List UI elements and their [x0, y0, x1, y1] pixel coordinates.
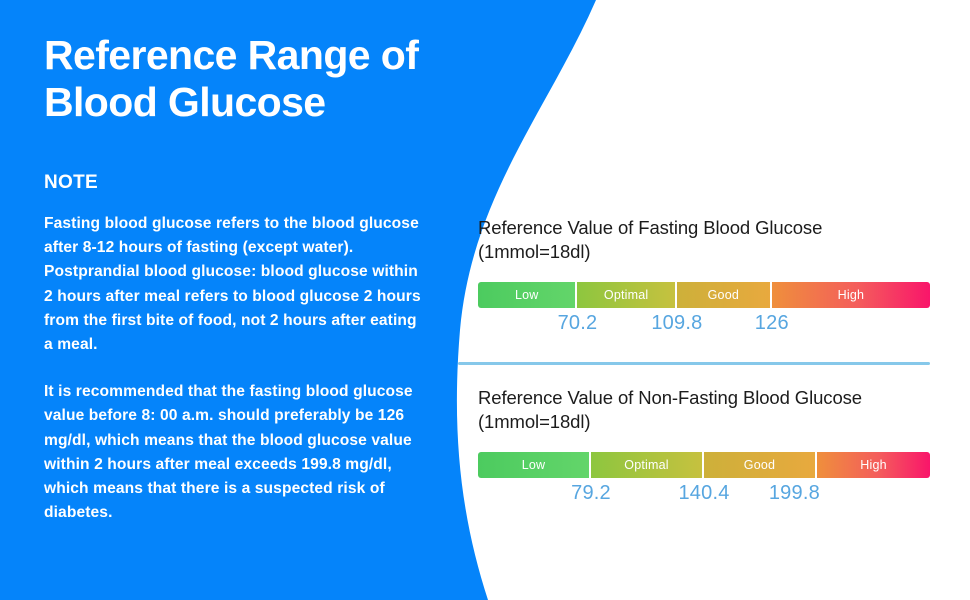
- right-panel: Reference Value of Fasting Blood Glucose…: [478, 0, 970, 600]
- fasting-segment-good-label: Good: [708, 288, 739, 302]
- non-fasting-heading: Reference Value of Non-Fasting Blood Glu…: [478, 386, 908, 434]
- non-fasting-value-3: 199.8: [769, 482, 820, 505]
- fasting-segment-optimal: Optimal: [577, 282, 676, 308]
- non-fasting-scale-bar: Low Optimal Good High: [478, 452, 930, 478]
- fasting-segment-high: High: [772, 282, 930, 308]
- fasting-segment-low: Low: [478, 282, 577, 308]
- non-fasting-segment-good: Good: [704, 452, 817, 478]
- section-divider: [458, 362, 930, 365]
- non-fasting-segment-high: High: [817, 452, 930, 478]
- fasting-value-3: 126: [755, 312, 789, 335]
- fasting-segment-low-label: Low: [515, 288, 539, 302]
- page-title: Reference Range of Blood Glucose: [44, 32, 464, 126]
- left-panel: Reference Range of Blood Glucose NOTE Fa…: [0, 0, 440, 600]
- fasting-scale-bar: Low Optimal Good High: [478, 282, 930, 308]
- non-fasting-section: Reference Value of Non-Fasting Blood Glu…: [478, 386, 938, 514]
- fasting-segment-high-label: High: [838, 288, 865, 302]
- note-label: NOTE: [44, 172, 98, 194]
- non-fasting-segment-low: Low: [478, 452, 591, 478]
- note-body: Fasting blood glucose refers to the bloo…: [44, 212, 424, 525]
- non-fasting-segment-optimal-label: Optimal: [624, 458, 668, 472]
- fasting-section: Reference Value of Fasting Blood Glucose…: [478, 216, 938, 344]
- non-fasting-boundary-values: 79.2 140.4 199.8: [478, 482, 930, 514]
- note-paragraph-2: It is recommended that the fasting blood…: [44, 380, 424, 525]
- fasting-value-2: 109.8: [651, 312, 702, 335]
- fasting-boundary-values: 70.2 109.8 126: [478, 312, 930, 344]
- fasting-segment-good: Good: [677, 282, 772, 308]
- non-fasting-segment-low-label: Low: [522, 458, 546, 472]
- non-fasting-value-1: 79.2: [571, 482, 611, 505]
- non-fasting-segment-high-label: High: [860, 458, 887, 472]
- non-fasting-value-2: 140.4: [678, 482, 729, 505]
- fasting-value-1: 70.2: [558, 312, 598, 335]
- non-fasting-segment-good-label: Good: [744, 458, 775, 472]
- fasting-segment-optimal-label: Optimal: [604, 288, 648, 302]
- non-fasting-segment-optimal: Optimal: [591, 452, 704, 478]
- infographic-poster: Reference Range of Blood Glucose NOTE Fa…: [0, 0, 970, 600]
- note-paragraph-1: Fasting blood glucose refers to the bloo…: [44, 212, 424, 357]
- fasting-heading: Reference Value of Fasting Blood Glucose…: [478, 216, 908, 264]
